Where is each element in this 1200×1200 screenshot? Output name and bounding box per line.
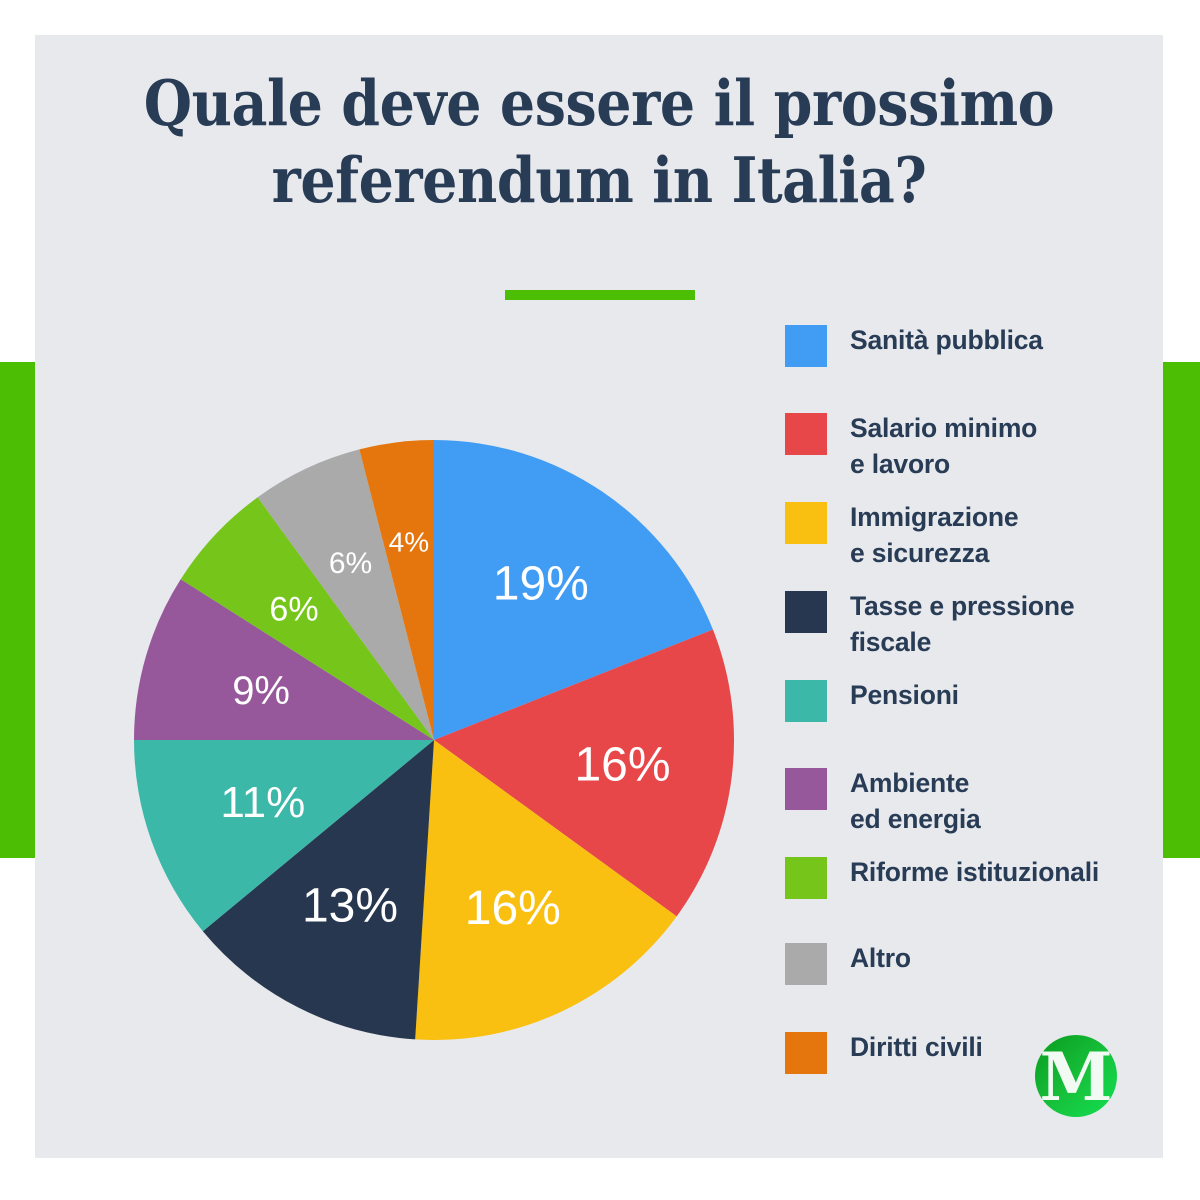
legend-color-swatch	[785, 1032, 827, 1074]
legend-item-label: Riforme istituzionali	[850, 855, 1099, 891]
legend-item-label: Tasse e pressione fiscale	[850, 589, 1074, 660]
legend-item[interactable]: Tasse e pressione fiscale	[785, 591, 1074, 660]
legend-color-swatch	[785, 943, 827, 985]
accent-bar-right	[1163, 362, 1200, 858]
pie-slice-label: 11%	[220, 778, 305, 827]
title-underline-accent	[505, 290, 695, 300]
pie-slice-label: 19%	[493, 558, 589, 611]
legend-item[interactable]: Immigrazione e sicurezza	[785, 502, 1018, 571]
legend-color-swatch	[785, 680, 827, 722]
pie-slice-label: 13%	[302, 880, 398, 933]
legend-item-label: Altro	[850, 941, 911, 977]
pie-slice-label: 9%	[232, 669, 290, 713]
legend-item[interactable]: Riforme istituzionali	[785, 857, 1099, 899]
legend-item-label: Diritti civili	[850, 1030, 983, 1066]
legend-color-swatch	[785, 768, 827, 810]
legend-color-swatch	[785, 325, 827, 367]
legend-item[interactable]: Sanità pubblica	[785, 325, 1043, 367]
page-title: Quale deve essere il prossimo referendum…	[103, 65, 1096, 219]
legend-item[interactable]: Altro	[785, 943, 911, 985]
legend-color-swatch	[785, 502, 827, 544]
legend-item-label: Ambiente ed energia	[850, 766, 981, 837]
logo-letter: M	[1039, 1038, 1112, 1116]
accent-bar-left	[0, 362, 35, 858]
pie-slice-label: 16%	[574, 739, 670, 792]
legend-item[interactable]: Diritti civili	[785, 1032, 983, 1074]
pie-chart-svg: 19%16%16%13%11%9%6%6%4%	[134, 440, 734, 1040]
pie-slice-label: 16%	[465, 882, 561, 935]
legend-item-label: Sanità pubblica	[850, 323, 1043, 359]
logo-svg: M	[1034, 1031, 1118, 1121]
legend-item[interactable]: Salario minimo e lavoro	[785, 413, 1037, 482]
legend-color-swatch	[785, 857, 827, 899]
legend-item-label: Immigrazione e sicurezza	[850, 500, 1018, 571]
infographic-root: Quale deve essere il prossimo referendum…	[0, 0, 1200, 1200]
legend-color-swatch	[785, 591, 827, 633]
pie-slice-label: 6%	[329, 547, 372, 580]
pie-chart: 19%16%16%13%11%9%6%6%4%	[134, 440, 734, 1040]
legend-item[interactable]: Ambiente ed energia	[785, 768, 981, 837]
legend-color-swatch	[785, 413, 827, 455]
legend-item-label: Salario minimo e lavoro	[850, 411, 1037, 482]
legend-item[interactable]: Pensioni	[785, 680, 959, 722]
pie-slice-label: 6%	[269, 591, 318, 629]
legend-item-label: Pensioni	[850, 678, 959, 714]
brand-logo: M	[1034, 1031, 1118, 1121]
pie-slice-label: 4%	[389, 526, 429, 557]
